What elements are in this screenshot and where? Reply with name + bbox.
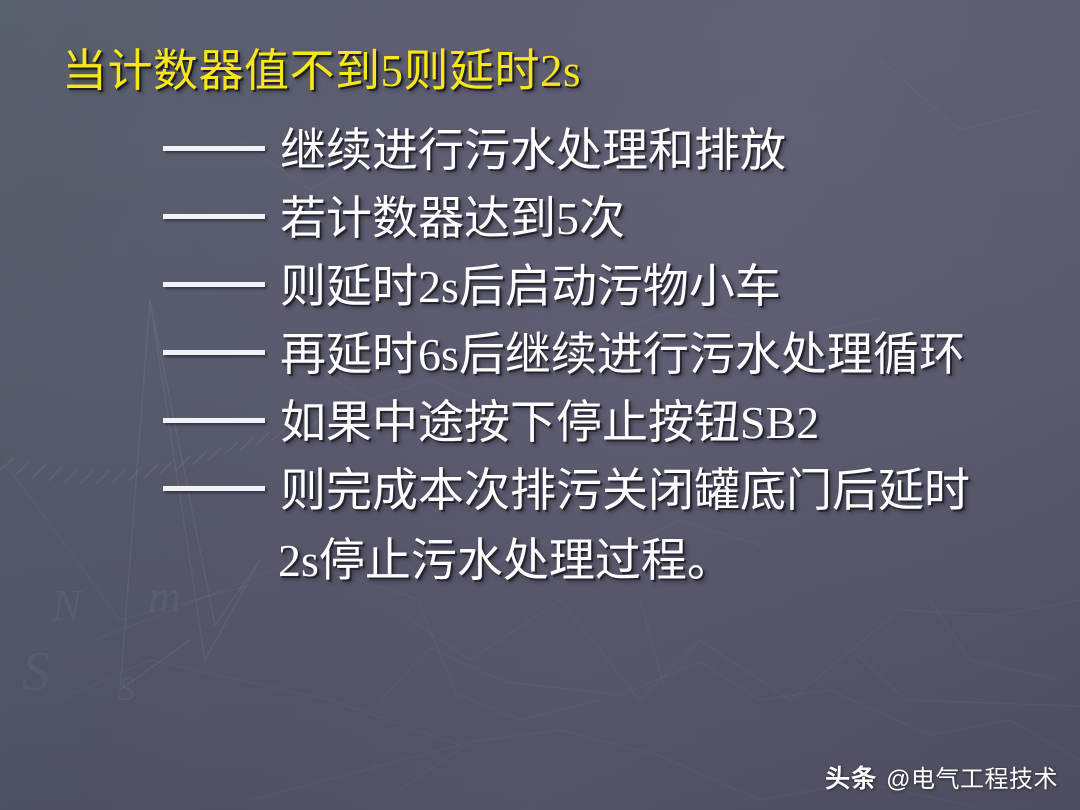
bullet-text: 则延时2s后启动污物小车	[280, 254, 781, 320]
watermark-brand: 头条	[825, 759, 877, 795]
bullet-item: 继续进行污水处理和排放	[163, 118, 1063, 186]
bullet-item: 再延时6s后继续进行污水处理循环	[163, 322, 1063, 390]
bullet-item: 则完成本次排污关闭罐底门后延时	[163, 458, 1063, 526]
bullet-text: 再延时6s后继续进行污水处理循环	[280, 322, 965, 388]
bullet-text: 继续进行污水处理和排放	[280, 118, 786, 184]
em-dash-marker-icon	[163, 486, 265, 491]
bullet-text: 若计数器达到5次	[280, 186, 625, 252]
em-dash-marker-icon	[163, 214, 265, 219]
watermark-handle: @电气工程技术	[886, 759, 1058, 794]
bullet-item: 则延时2s后启动污物小车	[163, 254, 1063, 322]
bullet-text: 如果中途按下停止按钮SB2	[280, 390, 819, 456]
slide-title: 当计数器值不到5则延时2s	[62, 48, 581, 95]
em-dash-marker-icon	[163, 282, 265, 287]
watermark: 头条 @电气工程技术	[825, 759, 1058, 795]
bullet-text: 则完成本次排污关闭罐底门后延时	[280, 458, 970, 524]
bullet-continuation-text: 2s停止污水处理过程。	[278, 528, 733, 594]
em-dash-marker-icon	[163, 146, 265, 151]
em-dash-marker-icon	[163, 418, 265, 423]
bullet-item: 若计数器达到5次	[163, 186, 1063, 254]
slide-content: 当计数器值不到5则延时2s 继续进行污水处理和排放 若计数器达到5次 则延时2s…	[0, 0, 1080, 810]
bullet-list: 继续进行污水处理和排放 若计数器达到5次 则延时2s后启动污物小车 再延时6s后…	[163, 118, 1063, 526]
presentation-slide: S N S m 当计数器值不到5则延时2s 继续进行污水处理和排放	[0, 0, 1080, 810]
bullet-item: 如果中途按下停止按钮SB2	[163, 390, 1063, 458]
em-dash-marker-icon	[163, 350, 265, 355]
